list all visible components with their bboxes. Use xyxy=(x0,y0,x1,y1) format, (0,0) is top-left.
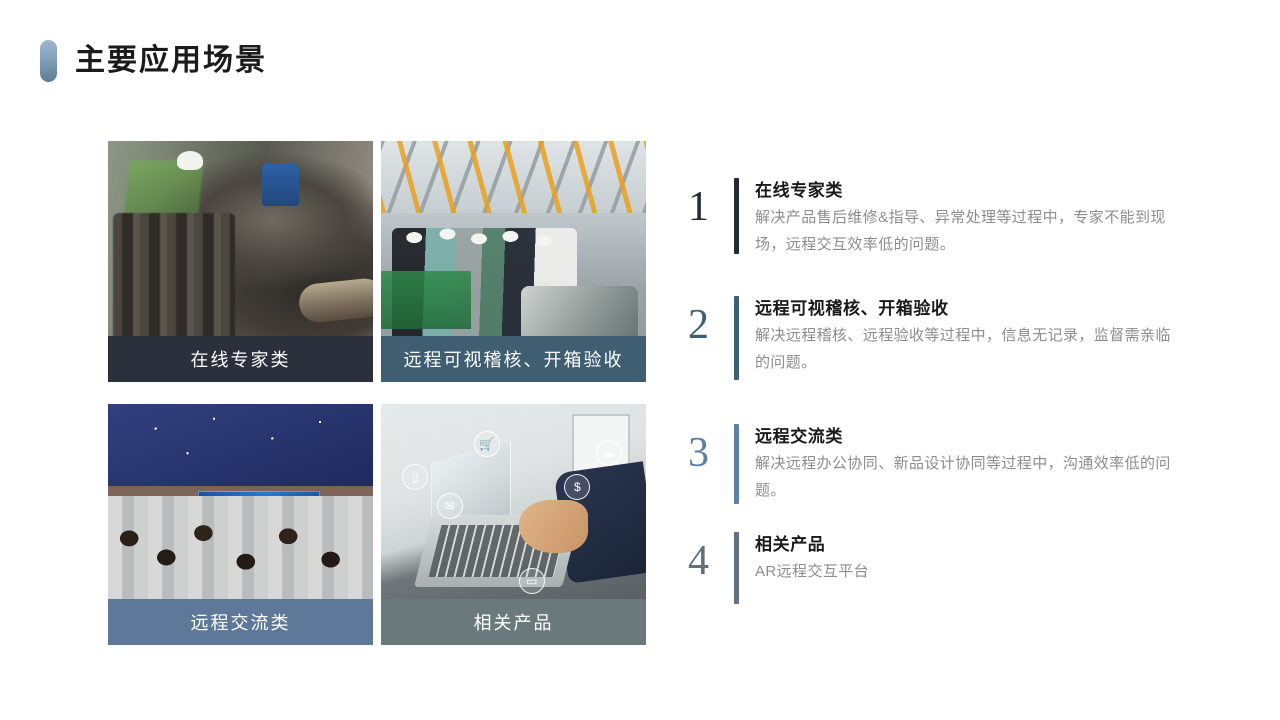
list-item-number: 1 xyxy=(688,178,734,236)
gallery-caption: 远程可视稽核、开箱验收 xyxy=(381,336,646,382)
list-item-number: 2 xyxy=(688,296,734,354)
list-item[interactable]: 4 相关产品 AR远程交互平台 xyxy=(688,532,1208,622)
cart-icon: 🛒 xyxy=(474,431,500,457)
gallery-caption: 在线专家类 xyxy=(108,336,373,382)
list-item-description: 解决产品售后维修&指导、异常处理等过程中，专家不能到现场，远程交互效率低的问题。 xyxy=(755,204,1185,258)
hardhat-shape xyxy=(177,151,204,170)
gallery-card-remote-communication[interactable]: 远程交流类 xyxy=(108,404,373,645)
phone-icon: ▯ xyxy=(402,464,428,490)
mail-icon: ✉ xyxy=(437,493,463,519)
audience-crowd-shape xyxy=(108,496,373,602)
gallery-caption: 相关产品 xyxy=(381,599,646,645)
page-title-text: 主要应用场景 xyxy=(75,46,267,76)
worker-blue-shirt-shape xyxy=(262,163,299,206)
list-item-description: AR远程交互平台 xyxy=(755,558,869,585)
gallery-card-related-product[interactable]: 🛒 ☁ ▯ ✉ $ ▭ 相关产品 xyxy=(381,404,646,645)
list-item-heading: 相关产品 xyxy=(755,532,869,558)
gallery-card-remote-audit[interactable]: 远程可视稽核、开箱验收 xyxy=(381,141,646,382)
hand-shape xyxy=(519,500,588,553)
pill-bullet-icon xyxy=(40,40,57,82)
box-icon: ▭ xyxy=(519,568,545,594)
list-item-description: 解决远程办公协同、新品设计协同等过程中，沟通效率低的问题。 xyxy=(755,450,1185,504)
gallery-caption: 远程交流类 xyxy=(108,599,373,645)
image-gallery: 在线专家类 远程可视稽核、开箱验收 远程交流类 🛒 xyxy=(108,141,646,645)
slide-root: 主要应用场景 在线专家类 远程可视稽核、开箱验收 远程交流类 xyxy=(0,0,1280,720)
list-item-heading: 远程可视稽核、开箱验收 xyxy=(755,296,1185,322)
rotor-shaft-shape xyxy=(297,276,373,323)
list-item[interactable]: 2 远程可视稽核、开箱验收 解决远程稽核、远程验收等过程中，信息无记录，监督需亲… xyxy=(688,296,1208,424)
list-item[interactable]: 1 在线专家类 解决产品售后维修&指导、异常处理等过程中，专家不能到现场，远程交… xyxy=(688,178,1208,296)
list-item-heading: 远程交流类 xyxy=(755,424,1185,450)
scenario-list: 1 在线专家类 解决产品售后维修&指导、异常处理等过程中，专家不能到现场，远程交… xyxy=(688,178,1208,622)
list-item-heading: 在线专家类 xyxy=(755,178,1185,204)
list-item-number: 3 xyxy=(688,424,734,482)
list-item-number: 4 xyxy=(688,532,734,590)
list-item-description: 解决远程稽核、远程验收等过程中，信息无记录，监督需亲临的问题。 xyxy=(755,322,1185,376)
page-title: 主要应用场景 xyxy=(40,40,267,82)
gallery-card-online-expert[interactable]: 在线专家类 xyxy=(108,141,373,382)
list-item[interactable]: 3 远程交流类 解决远程办公协同、新品设计协同等过程中，沟通效率低的问题。 xyxy=(688,424,1208,532)
